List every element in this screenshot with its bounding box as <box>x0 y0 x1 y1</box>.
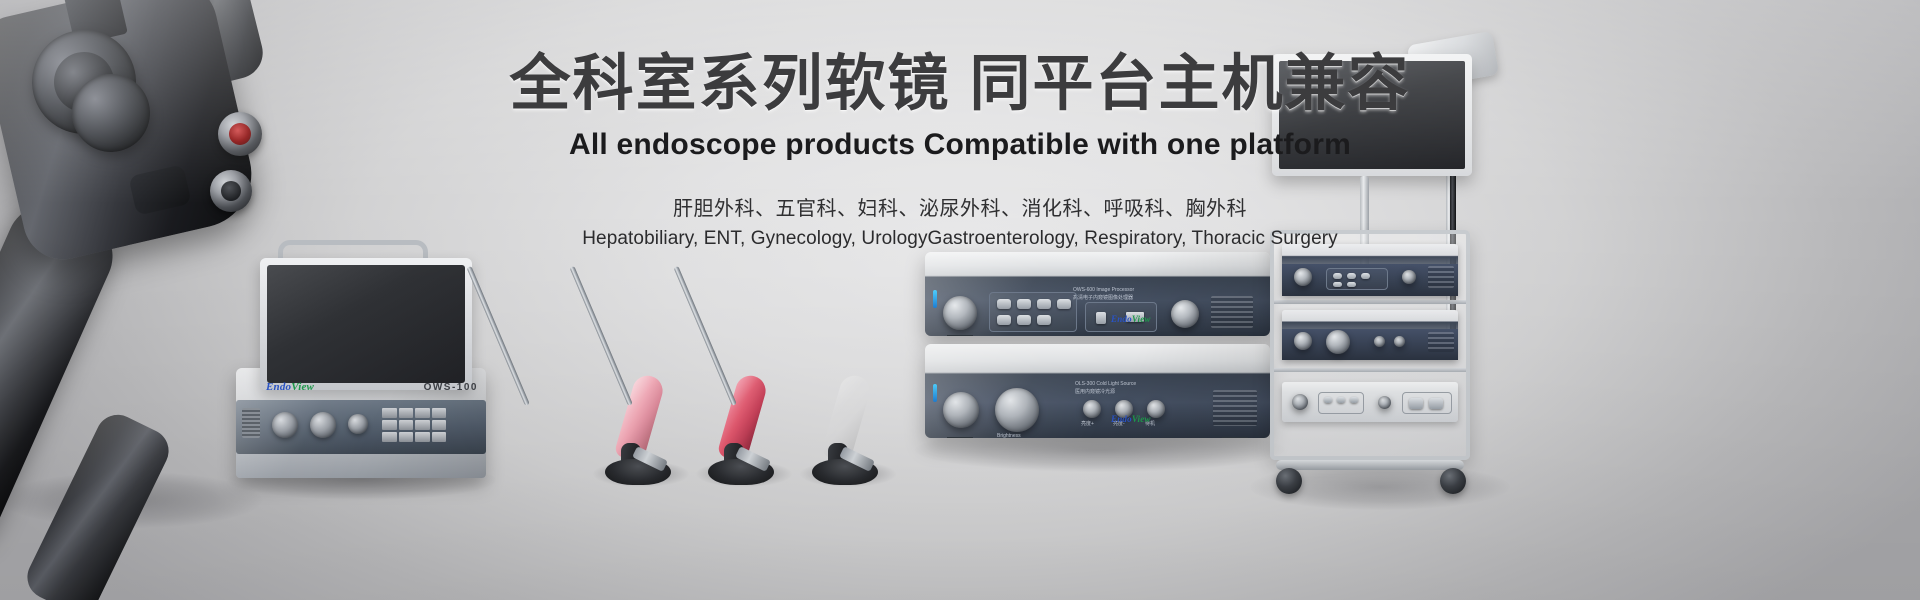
processor-button-group <box>989 292 1077 332</box>
cart-shelf-1 <box>1274 300 1466 304</box>
ows-side-vent <box>242 408 260 438</box>
departments-line-chinese: 肝胆外科、五官科、妇科、泌尿外科、消化科、呼吸科、胸外科 <box>0 192 1920 221</box>
cart-equipment-rack <box>1270 230 1470 460</box>
processor-brand-logo: EndoView <box>1111 314 1151 324</box>
ows-keypad <box>382 408 446 442</box>
ows-monitor-processor: EndoView OWS-100 <box>232 248 490 478</box>
ows-brand-logo: EndoView <box>266 381 314 393</box>
image-processor-unit: OWS-600 Image Processor 高清电子内窥镜图像处理器 End… <box>925 252 1270 336</box>
banner-subheadline-english: All endoscope products Compatible with o… <box>0 128 1920 162</box>
cold-light-source-unit: OLS-300 Cold Light Source 医用内窥镜冷光源 Brigh… <box>925 344 1270 438</box>
lightsource-brand-view: View <box>1132 414 1151 424</box>
cart-base-platform <box>1276 460 1464 470</box>
processor-knob <box>1171 300 1199 328</box>
processor-title-cn: 高清电子内窥镜图像处理器 <box>1073 296 1133 301</box>
ows-brand-endo: Endo <box>266 381 291 393</box>
ows-display-screen <box>267 265 465 383</box>
cart-caster-left <box>1276 468 1302 494</box>
scope-lower-shaft <box>20 407 176 600</box>
processor-lightsource-stack: OWS-600 Image Processor 高清电子内窥镜图像处理器 End… <box>925 252 1270 452</box>
processor-camera-connector <box>943 296 977 330</box>
lightsource-brand-endo: Endo <box>1111 414 1132 424</box>
forceps-red <box>712 255 892 485</box>
lightsource-button-1-label: 亮度+ <box>1081 422 1094 427</box>
cart-caster-right <box>1440 468 1466 494</box>
ows-display-bezel <box>260 258 472 390</box>
lightsource-brand-logo: EndoView <box>1111 414 1151 424</box>
cart-device-camera-unit <box>1282 244 1458 296</box>
product-banner: 全科室系列软镜 同平台主机兼容 All endoscope products C… <box>0 0 1920 600</box>
cart-shelf-2 <box>1274 368 1466 372</box>
processor-title-en: OWS-600 Image Processor <box>1073 288 1134 293</box>
lightsource-title-en: OLS-300 Cold Light Source <box>1075 382 1136 387</box>
ows-knob-control <box>348 414 368 434</box>
lightsource-vent <box>1213 390 1257 426</box>
banner-headline-chinese: 全科室系列软镜 同平台主机兼容 <box>0 48 1920 120</box>
lightsource-scope-connector <box>943 392 979 428</box>
ows-model-label: OWS-100 <box>424 382 478 393</box>
processor-brand-view: View <box>1132 314 1151 324</box>
ows-connector-port-2 <box>310 412 336 438</box>
ows-connector-port-1 <box>272 412 298 438</box>
processor-vent <box>1211 296 1253 328</box>
cart-device-insufflator <box>1282 382 1458 422</box>
ows-brand-view: View <box>291 381 314 393</box>
processor-accent-stripe <box>933 290 937 308</box>
processor-brand-endo: Endo <box>1111 314 1132 324</box>
cart-device-light-source <box>1282 310 1458 360</box>
lightsource-brightness-dial <box>995 388 1039 432</box>
departments-line-english: Hepatobiliary, ENT, Gynecology, UrologyG… <box>0 228 1920 250</box>
lightsource-accent-stripe <box>933 384 937 402</box>
banner-text-block: 全科室系列软镜 同平台主机兼容 All endoscope products C… <box>0 48 1920 250</box>
lightsource-title-cn: 医用内窥镜冷光源 <box>1075 390 1115 395</box>
lightsource-dial-label: Brightness <box>997 434 1021 438</box>
lightsource-button-1 <box>1083 400 1101 418</box>
